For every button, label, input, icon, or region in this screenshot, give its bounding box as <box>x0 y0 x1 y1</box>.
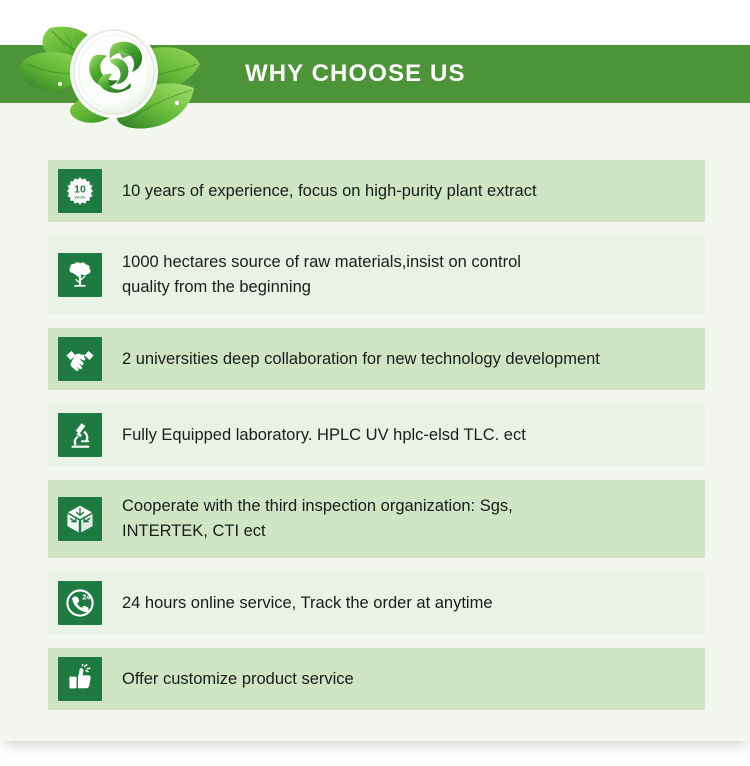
ten-years-badge-icon: 10 years <box>58 169 102 213</box>
svg-text:24: 24 <box>82 592 91 601</box>
logo-disc <box>70 26 158 118</box>
feature-row[interactable]: 10 years 10 years of experience, focus o… <box>48 160 705 222</box>
why-choose-us-page: WHY CHOOSE US <box>0 0 750 766</box>
leaf-circle-logo <box>14 14 214 139</box>
feature-text: 2 universities deep collaboration for ne… <box>122 347 705 372</box>
page-title: WHY CHOOSE US <box>245 58 466 90</box>
cube-box-icon <box>58 497 102 541</box>
feature-row[interactable]: Fully Equipped laboratory. HPLC UV hplc-… <box>48 404 705 466</box>
feature-row[interactable]: 24 24 hours online service, Track the or… <box>48 572 705 634</box>
feature-text: 10 years of experience, focus on high-pu… <box>122 179 705 204</box>
feature-text: Cooperate with the third inspection orga… <box>122 494 705 544</box>
feature-row[interactable]: 1000 hectares source of raw materials,in… <box>48 236 705 314</box>
thumbs-up-icon <box>58 657 102 701</box>
feature-row[interactable]: Offer customize product service <box>48 648 705 710</box>
feature-text: 24 hours online service, Track the order… <box>122 591 705 616</box>
twentyfour-hour-phone-icon: 24 <box>58 581 102 625</box>
feature-list: 10 years 10 years of experience, focus o… <box>48 160 705 724</box>
feature-text: 1000 hectares source of raw materials,in… <box>122 250 705 300</box>
tree-icon <box>58 253 102 297</box>
feature-row[interactable]: 2 universities deep collaboration for ne… <box>48 328 705 390</box>
microscope-icon <box>58 413 102 457</box>
svg-text:years: years <box>74 194 86 199</box>
feature-row[interactable]: Cooperate with the third inspection orga… <box>48 480 705 558</box>
handshake-icon <box>58 337 102 381</box>
feature-text: Offer customize product service <box>122 667 705 692</box>
feature-text: Fully Equipped laboratory. HPLC UV hplc-… <box>122 423 705 448</box>
